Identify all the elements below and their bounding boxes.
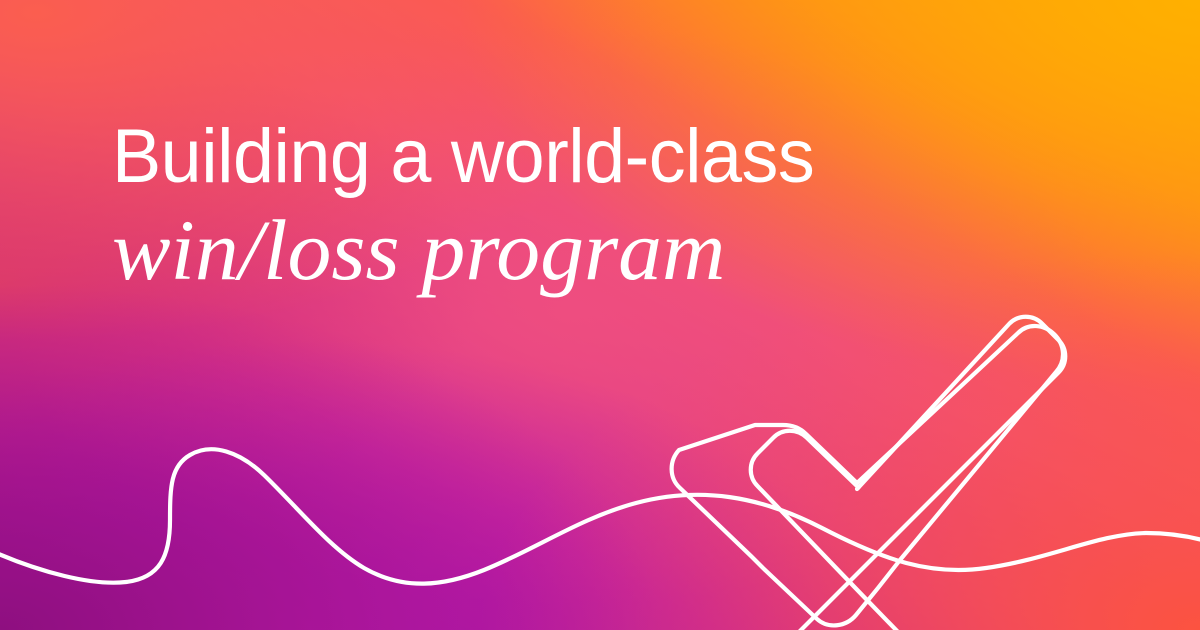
headline-block: Building a world-class win/loss program: [112, 112, 1062, 298]
checkmark-right-arm-outer: [797, 317, 1065, 630]
headline-line-accent: win/loss program: [112, 202, 1081, 298]
headline-line-primary: Building a world-class: [112, 112, 1034, 202]
line-art-layer: [0, 0, 1200, 630]
banner-canvas: Building a world-class win/loss program: [0, 0, 1200, 630]
flow-wave-line: [0, 449, 1200, 583]
